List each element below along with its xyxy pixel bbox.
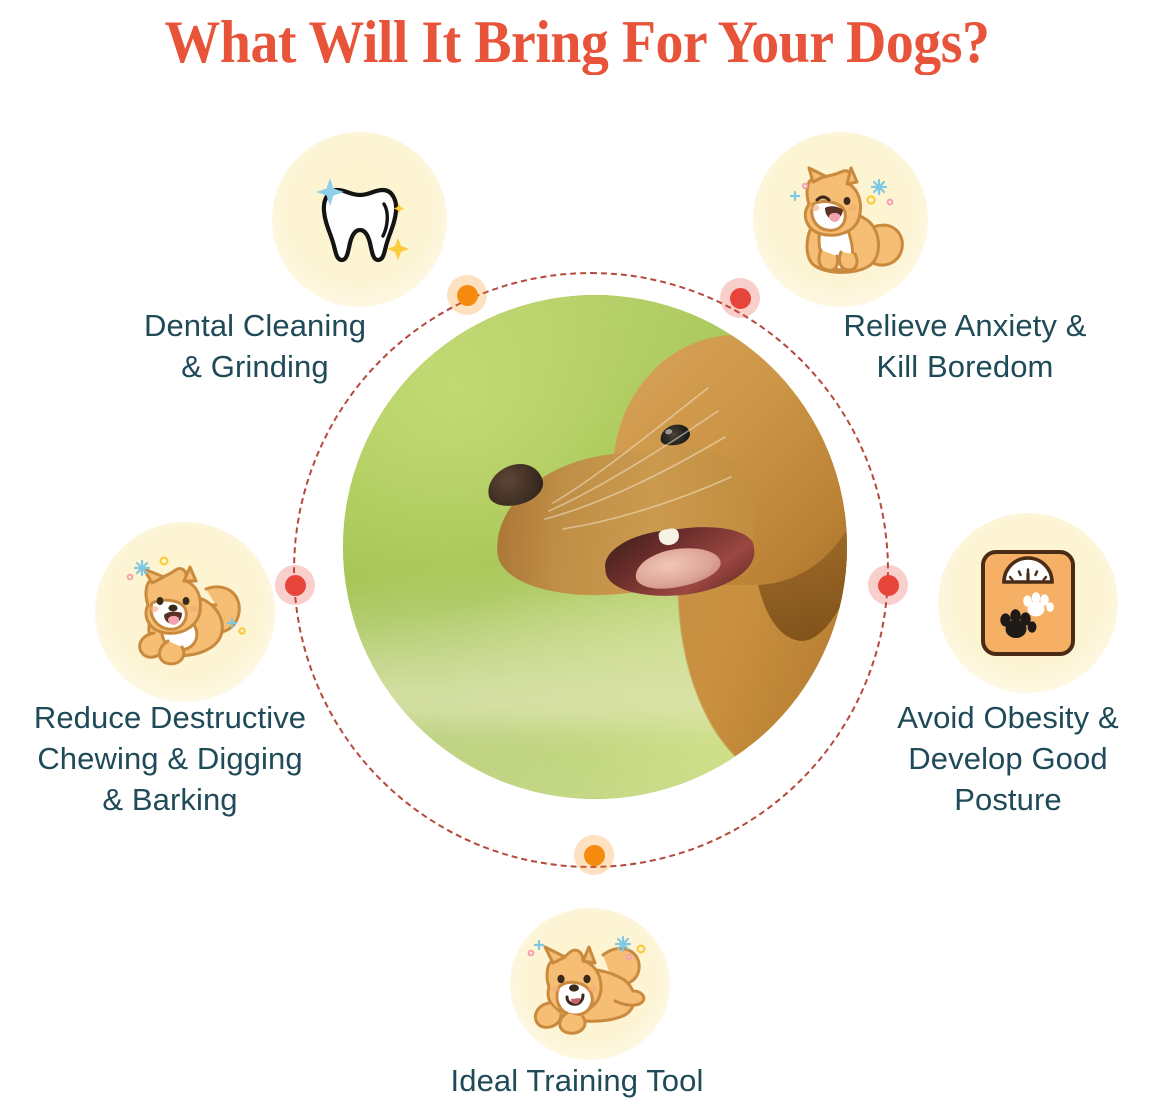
marker-right: [868, 565, 908, 605]
feature-label-training: Ideal Training Tool: [357, 1060, 797, 1101]
marker-dot: [285, 575, 306, 596]
marker-bottom: [574, 835, 614, 875]
feature-label-chewing: Reduce Destructive Chewing & Digging & B…: [0, 697, 350, 821]
weight-scale-paw-icon: [973, 544, 1083, 662]
page-title: What Will It Bring For Your Dogs?: [40, 8, 1113, 77]
feature-label-obesity: Avoid Obesity & Develop Good Posture: [862, 697, 1154, 821]
feature-icon-bubble-dental: [272, 132, 447, 307]
marker-dot: [878, 575, 899, 596]
dog-whiskers: [493, 353, 773, 583]
marker-dot: [457, 285, 478, 306]
happy-dog-sitting-icon: [767, 146, 915, 294]
feature-icon-bubble-chewing: [95, 522, 275, 702]
feature-label-anxiety: Relieve Anxiety & Kill Boredom: [790, 305, 1140, 387]
marker-dot: [584, 845, 605, 866]
feature-icon-bubble-anxiety: [753, 132, 928, 307]
lying-dog-icon: [519, 919, 661, 1049]
marker-top-right: [720, 278, 760, 318]
feature-icon-bubble-training: [510, 908, 670, 1060]
tooth-icon: [300, 160, 420, 280]
feature-label-dental: Dental Cleaning & Grinding: [40, 305, 470, 387]
marker-dot: [730, 288, 751, 309]
infographic-page: What Will It Bring For Your Dogs?: [0, 0, 1154, 1116]
marker-left: [275, 565, 315, 605]
feature-icon-bubble-obesity: [938, 513, 1118, 693]
playful-dog-icon: [110, 537, 260, 687]
